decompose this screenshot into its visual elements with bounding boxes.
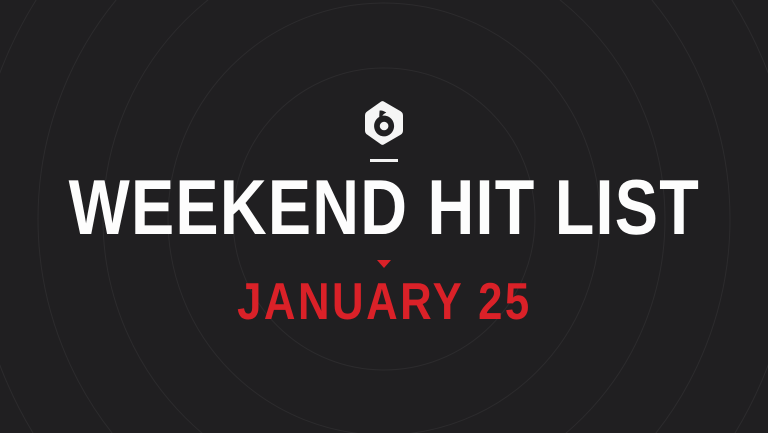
title-card: WEEKEND HIT LIST JANUARY 25 xyxy=(0,0,768,433)
b-inner-dot xyxy=(380,122,389,131)
beatport-b-logo-icon xyxy=(364,101,404,145)
page-title: WEEKEND HIT LIST xyxy=(68,176,699,238)
divider-rule xyxy=(370,159,398,162)
brand-logo xyxy=(364,101,404,145)
content-column: WEEKEND HIT LIST JANUARY 25 xyxy=(0,0,768,433)
date-label: JANUARY 25 xyxy=(237,282,532,324)
triangle-marker-icon xyxy=(377,260,391,268)
